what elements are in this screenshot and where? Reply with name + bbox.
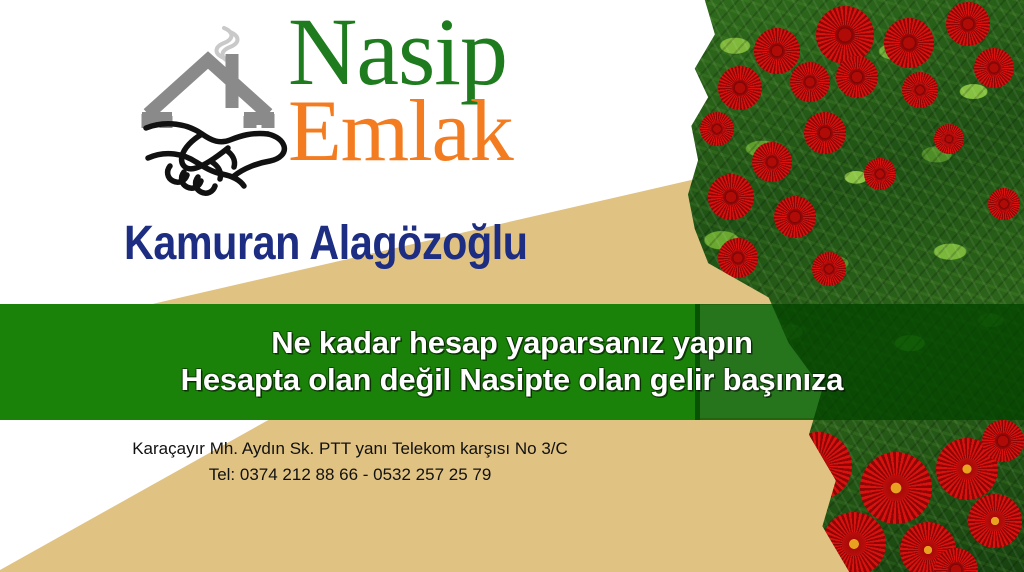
flower-bloom [812,252,846,286]
slogan-line-1: Ne kadar hesap yaparsanız yapın [271,327,752,360]
company-logo: Nasip Emlak [140,8,540,204]
flower-bloom [700,112,734,146]
logo-wordmark: Nasip Emlak [288,8,513,174]
flower-bloom [988,188,1020,220]
contact-address: Karaçayır Mh. Aydın Sk. PTT yanı Telekom… [0,436,700,462]
agent-name: Kamuran Alagözoğlu [124,216,528,271]
flower-bloom [864,158,896,190]
flower-bloom [982,420,1024,462]
logo-mark [140,16,290,202]
flower-bloom [974,48,1014,88]
house-handshake-icon [140,16,290,202]
flower-bloom [774,196,816,238]
flower-bloom [752,142,792,182]
flower-bloom [902,72,938,108]
contact-phones: Tel: 0374 212 88 66 - 0532 257 25 79 [0,462,700,488]
slogan-line-2: Hesapta olan değil Nasipte olan gelir ba… [181,364,844,397]
contact-block: Karaçayır Mh. Aydın Sk. PTT yanı Telekom… [0,436,700,489]
handshake-icon [146,124,284,193]
logo-word-emlak: Emlak [288,90,513,174]
slogan-block: Ne kadar hesap yaparsanız yapın Hesapta … [0,304,1024,420]
business-card-banner: Ne kadar hesap yaparsanız yapın Hesapta … [0,0,1024,572]
flower-bloom [968,494,1022,548]
flower-bloom [790,62,830,102]
flower-bloom [946,2,990,46]
flower-bloom [718,238,758,278]
flower-bloom [860,452,932,524]
flower-bloom [816,6,874,64]
flower-bloom [934,124,964,154]
flower-bloom [708,174,754,220]
flower-bloom [836,56,878,98]
flower-bloom [754,28,800,74]
flower-bloom [718,66,762,110]
flower-bloom [804,112,846,154]
flower-bloom [884,18,934,68]
